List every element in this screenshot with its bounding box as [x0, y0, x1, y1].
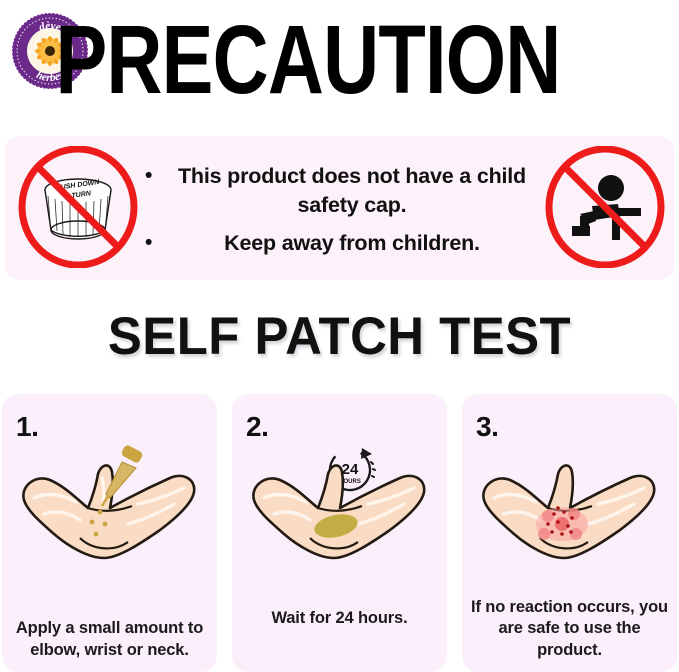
elbow-with-rash-icon [462, 442, 677, 567]
page-title: PRECAUTION [140, 4, 476, 114]
step-number: 1. [16, 411, 38, 443]
bullet-text: Keep away from children. [167, 229, 537, 258]
prohibition-sign [22, 149, 134, 265]
section-title: SELF PATCH TEST [14, 306, 666, 367]
patch-test-steps: 1. [0, 394, 679, 672]
step-number: 3. [476, 411, 498, 443]
prohibition-sign [549, 149, 661, 265]
list-item: • This product does not have a child saf… [145, 162, 537, 220]
elbow-with-dropper-icon [2, 442, 217, 567]
step-card-3: 3. [462, 394, 677, 672]
step-card-2: 2. 24 HOURS [232, 394, 447, 672]
precaution-bullet-list: • This product does not have a child saf… [145, 156, 537, 264]
step-number: 2. [246, 411, 268, 443]
badge-value: 24 [341, 461, 358, 478]
bullet-text: This product does not have a child safet… [167, 162, 537, 220]
no-child-safety-cap-icon: PUSH DOWN & TURN [17, 146, 139, 268]
step-caption: Apply a small amount to elbow, wrist or … [9, 618, 210, 662]
step-caption: Wait for 24 hours. [239, 608, 440, 630]
step-caption: If no reaction occurs, you are safe to u… [469, 597, 670, 662]
bullet-marker: • [145, 229, 167, 258]
elbow-with-24-hour-clock-icon: 24 HOURS [232, 442, 447, 567]
header: dève herbes ✳ ✳ PRECAUTION [0, 0, 679, 122]
step-card-1: 1. [2, 394, 217, 672]
precaution-infographic: dève herbes ✳ ✳ PRECAUTION [0, 0, 679, 672]
no-children-icon [544, 146, 666, 268]
bullet-marker: • [145, 162, 167, 191]
logo-star-left: ✳ [27, 48, 34, 57]
list-item: • Keep away from children. [145, 229, 537, 258]
precaution-callout: PUSH DOWN & TURN • This product does not… [5, 136, 674, 280]
